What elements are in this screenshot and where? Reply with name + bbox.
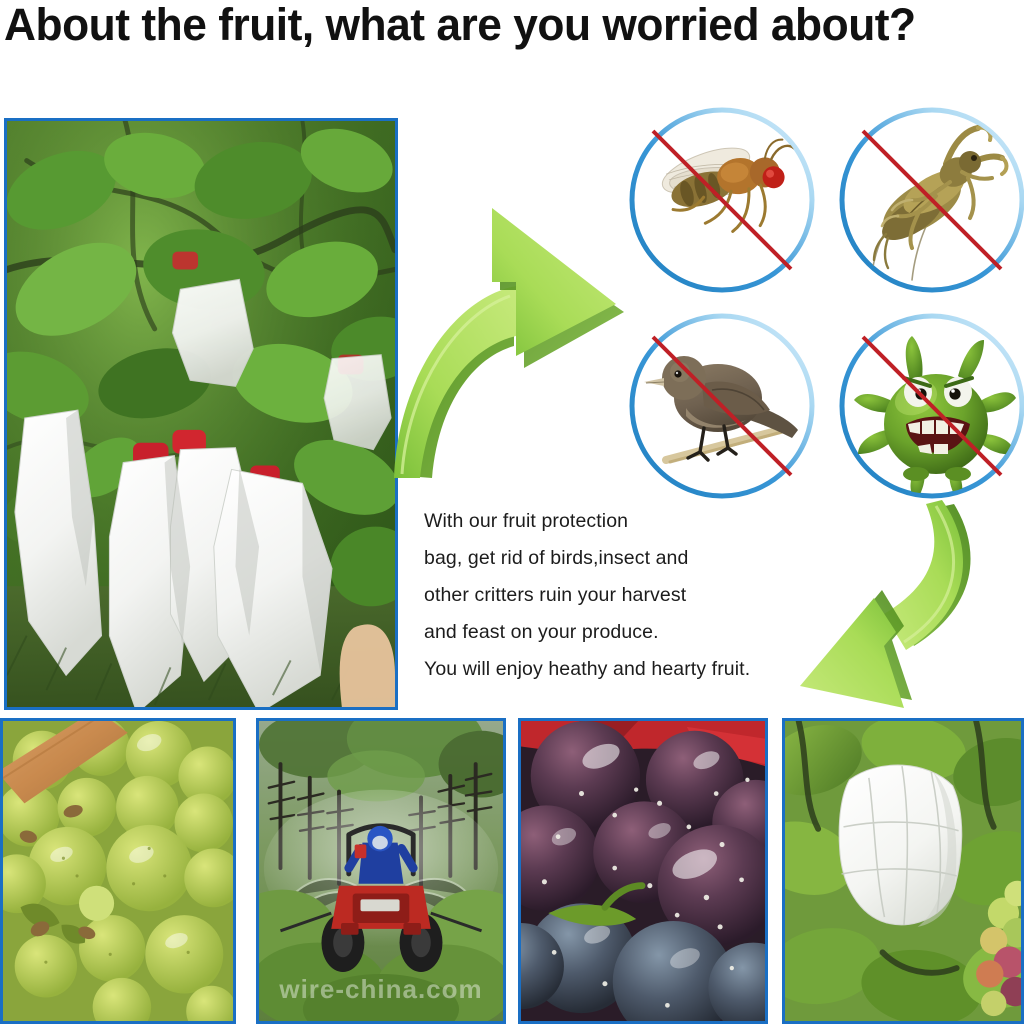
blurb-line-1: With our fruit protection: [424, 503, 824, 540]
germ-icon: [844, 318, 1020, 494]
blurb-line-2: bag, get rid of birds,insect and: [424, 540, 824, 577]
photo-green-grapes: [0, 718, 236, 1024]
photo-fruit-protection-bags: [4, 118, 398, 710]
blurb-paragraph: With our fruit protection bag, get rid o…: [424, 503, 824, 688]
pest-circle-bird: [626, 310, 818, 502]
bird-icon: [634, 318, 810, 494]
blurb-line-3: other critters ruin your harvest: [424, 577, 824, 614]
pest-circle-cricket: [836, 104, 1024, 296]
pest-circle-germ: [836, 310, 1024, 502]
fruit-fly-icon: [634, 112, 810, 288]
cricket-icon: [844, 112, 1020, 288]
arrow-up-right-icon: [388, 186, 638, 526]
photo-dark-grapes: [518, 718, 768, 1024]
pest-circle-fly: [626, 104, 818, 296]
page-title: About the fruit, what are you worried ab…: [4, 0, 1009, 56]
photo-tractor-spraying: wire-china.com: [256, 718, 506, 1024]
blurb-line-4: and feast on your produce.: [424, 614, 824, 651]
photo-bagged-grape-cluster: [782, 718, 1024, 1024]
blurb-line-5: You will enjoy heathy and hearty fruit.: [424, 651, 824, 688]
